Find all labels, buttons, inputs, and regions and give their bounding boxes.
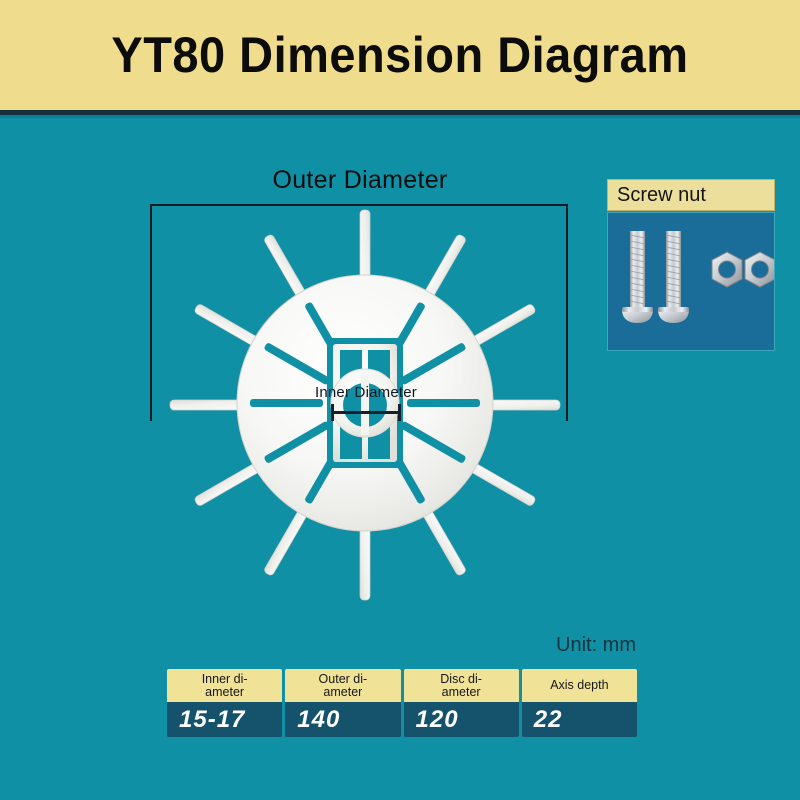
spec-header-inner-diameter: Inner di- ameter	[167, 669, 282, 702]
fan-hub	[327, 338, 403, 468]
spec-header-line2: ameter	[323, 685, 362, 699]
spec-header-line2: ameter	[205, 685, 244, 699]
inner-diameter-label: Inner Diameter	[276, 384, 456, 401]
screw-icon-2	[658, 231, 689, 323]
fan-impeller-image	[165, 205, 565, 605]
diagram-page: YT80 Dimension Diagram Outer Diameter	[0, 0, 800, 800]
screw-nut-label: Screw nut	[607, 179, 775, 211]
spec-column-axis-depth: Axis depth 22	[522, 669, 637, 737]
unit-label: Unit: mm	[556, 634, 636, 657]
spec-table: Inner di- ameter 15-17 Outer di- ameter …	[167, 669, 637, 737]
outer-diameter-label: Outer Diameter	[150, 166, 570, 195]
spec-column-inner-diameter: Inner di- ameter 15-17	[167, 669, 282, 737]
spec-value-outer-diameter: 140	[285, 702, 400, 737]
spec-column-outer-diameter: Outer di- ameter 140	[285, 669, 400, 737]
hex-nut-icon-2	[745, 252, 774, 287]
spec-header-axis-depth: Axis depth	[522, 669, 637, 702]
header-divider-secondary	[0, 115, 800, 118]
spec-value-disc-diameter: 120	[404, 702, 519, 737]
spec-column-disc-diameter: Disc di- ameter 120	[404, 669, 519, 737]
spec-value-axis-depth: 22	[522, 702, 637, 737]
spec-header-line1: Inner di-	[202, 672, 248, 686]
spec-header-line1: Disc di-	[440, 672, 482, 686]
spec-header-line1: Axis depth	[550, 678, 608, 692]
outer-diameter-extension-line-left	[150, 204, 152, 421]
spec-value-inner-diameter: 15-17	[167, 702, 282, 737]
spec-header-line2: ameter	[442, 685, 481, 699]
inner-diameter-tick-left	[331, 404, 334, 421]
screw-icon-1	[622, 231, 653, 323]
screw-nut-panel: Screw nut	[607, 179, 777, 351]
spec-header-disc-diameter: Disc di- ameter	[404, 669, 519, 702]
page-title: YT80 Dimension Diagram	[24, 0, 776, 110]
spec-header-line1: Outer di-	[319, 672, 368, 686]
screw-nut-illustration	[607, 212, 775, 351]
inner-diameter-dimension-line	[331, 411, 401, 414]
inner-diameter-tick-right	[398, 404, 401, 421]
spec-header-outer-diameter: Outer di- ameter	[285, 669, 400, 702]
hex-nut-icon-1	[712, 252, 742, 287]
outer-diameter-extension-line-right	[566, 204, 568, 421]
